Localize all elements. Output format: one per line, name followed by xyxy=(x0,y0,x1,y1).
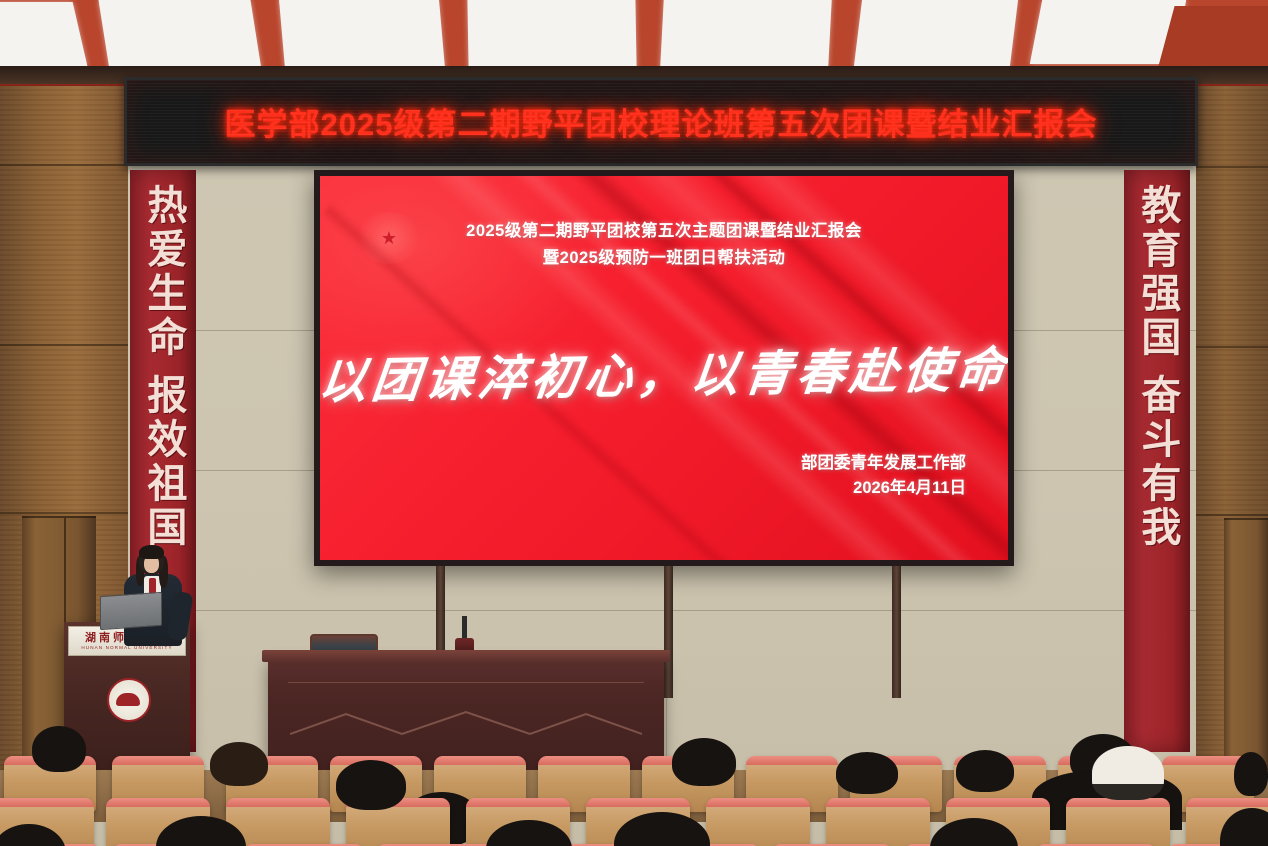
table-top xyxy=(262,650,670,662)
audience-head xyxy=(336,760,406,810)
audience-head xyxy=(1234,752,1268,796)
slide-footer-org: 部团委青年发展工作部 xyxy=(801,451,966,477)
ceiling-light-panel xyxy=(467,0,636,70)
seat[interactable] xyxy=(826,798,930,846)
ceiling-recess xyxy=(1157,6,1268,70)
slide-subtitle: 2025级第二期野平团校第五次主题团课暨结业汇报会 暨2025级预防一班团日帮扶… xyxy=(320,218,1008,272)
seat[interactable] xyxy=(1066,798,1170,846)
wood-seam xyxy=(0,344,128,346)
right-banner-line-2: 奋斗有我 xyxy=(1137,374,1178,550)
wood-seam xyxy=(0,164,128,166)
auditorium-photo: 医学部2025级第二期野平团校理论班第五次团课暨结业汇报会 热爱生命 报效祖国 … xyxy=(0,0,1268,846)
slide-subtitle-line-2: 暨2025级预防一班团日帮扶活动 xyxy=(320,245,1008,272)
speaker-hair-front xyxy=(139,545,164,559)
wood-seam xyxy=(0,512,128,514)
screen-support-post xyxy=(664,566,673,698)
projection-screen: ★ 2025级第二期野平团校第五次主题团课暨结业汇报会 暨2025级预防一班团日… xyxy=(314,170,1014,566)
slide-footer-date: 2026年4月11日 xyxy=(801,476,966,502)
ceiling-light-panel xyxy=(660,0,832,70)
led-banner: 医学部2025级第二期野平团校理论班第五次团课暨结业汇报会 xyxy=(124,77,1198,166)
slide-main-title: 以团课淬初心，以青春赴使命 xyxy=(320,330,1008,412)
wood-seam xyxy=(1196,346,1268,348)
left-banner-line-1: 热爱生命 xyxy=(143,184,184,360)
ceiling-light-panel xyxy=(98,0,261,70)
slide-subtitle-line-1: 2025级第二期野平团校第五次主题团课暨结业汇报会 xyxy=(320,218,1008,245)
audience-area xyxy=(0,712,1268,846)
ceiling-light-panel xyxy=(854,0,1019,68)
ceiling-light-panel xyxy=(0,2,87,66)
podium-university-en: HUNAN NORMAL UNIVERSITY xyxy=(81,646,172,651)
slide-footer: 部团委青年发展工作部 2026年4月11日 xyxy=(801,451,966,502)
wood-seam xyxy=(1196,166,1268,168)
wall-seam xyxy=(190,610,1200,611)
audience-head xyxy=(32,726,86,772)
audience-head xyxy=(956,750,1014,792)
left-banner-line-2: 报效祖国 xyxy=(143,374,184,550)
podium-laptop[interactable] xyxy=(100,592,162,630)
seat[interactable] xyxy=(706,798,810,846)
audience-head xyxy=(210,742,268,786)
audience-head xyxy=(836,752,898,794)
slide-content: ★ 2025级第二期野平团校第五次主题团课暨结业汇报会 暨2025级预防一班团日… xyxy=(320,176,1008,560)
led-banner-text: 医学部2025级第二期野平团校理论班第五次团课暨结业汇报会 xyxy=(225,99,1098,144)
ceiling-light-panel xyxy=(279,0,445,70)
audience-head xyxy=(672,738,736,786)
wood-seam xyxy=(1196,514,1268,516)
right-banner-line-1: 教育强国 xyxy=(1137,184,1178,360)
screen-support-post xyxy=(892,566,901,698)
vertical-banner-right: 教育强国 奋斗有我 xyxy=(1124,170,1190,752)
audience-head-with-cap xyxy=(1092,746,1164,800)
